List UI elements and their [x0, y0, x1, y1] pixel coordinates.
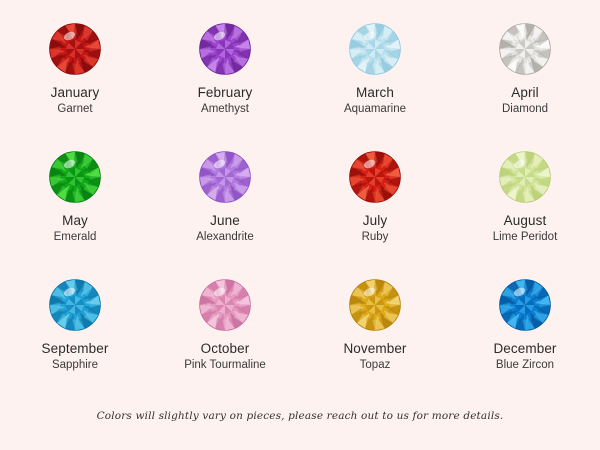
footnote-text: Colors will slightly vary on pieces, ple…: [0, 410, 600, 421]
birthstone-cell[interactable]: DecemberBlue Zircon: [450, 278, 600, 406]
birthstone-month: March: [356, 85, 394, 101]
gem-icon-blue-zircon: [498, 278, 552, 332]
birthstone-name: Alexandrite: [196, 230, 254, 244]
gem-icon-diamond: [498, 22, 552, 76]
birthstone-cell[interactable]: NovemberTopaz: [300, 278, 450, 406]
birthstone-name: Amethyst: [201, 102, 249, 116]
gem-icon-ruby: [348, 150, 402, 204]
birthstone-month: January: [51, 85, 100, 101]
birthstone-name: Pink Tourmaline: [184, 358, 266, 372]
birthstone-month: September: [42, 341, 109, 357]
birthstone-month: December: [493, 341, 556, 357]
gem-icon-emerald: [48, 150, 102, 204]
birthstone-month: October: [201, 341, 250, 357]
birthstone-cell[interactable]: AugustLime Peridot: [450, 150, 600, 278]
birthstone-cell[interactable]: MarchAquamarine: [300, 22, 450, 150]
birthstone-cell[interactable]: JulyRuby: [300, 150, 450, 278]
birthstone-cell[interactable]: JuneAlexandrite: [150, 150, 300, 278]
birthstone-name: Sapphire: [52, 358, 98, 372]
birthstone-cell[interactable]: FebruaryAmethyst: [150, 22, 300, 150]
birthstone-name: Blue Zircon: [496, 358, 554, 372]
gem-icon-pink-tourmaline: [198, 278, 252, 332]
birthstone-name: Ruby: [362, 230, 389, 244]
gem-icon-alexandrite: [198, 150, 252, 204]
birthstone-cell[interactable]: AprilDiamond: [450, 22, 600, 150]
birthstone-month: April: [511, 85, 539, 101]
birthstone-name: Lime Peridot: [493, 230, 558, 244]
birthstone-name: Aquamarine: [344, 102, 406, 116]
gem-icon-amethyst: [198, 22, 252, 76]
gem-icon-topaz: [348, 278, 402, 332]
birthstone-name: Diamond: [502, 102, 548, 116]
birthstone-month: May: [62, 213, 88, 229]
birthstone-month: July: [363, 213, 387, 229]
gem-icon-lime-peridot: [498, 150, 552, 204]
birthstone-name: Topaz: [360, 358, 391, 372]
birthstone-cell[interactable]: JanuaryGarnet: [0, 22, 150, 150]
birthstone-cell[interactable]: MayEmerald: [0, 150, 150, 278]
birthstone-month: August: [504, 213, 547, 229]
gem-icon-sapphire: [48, 278, 102, 332]
birthstone-chart-page: JanuaryGarnetFebruaryAmethystMarchAquama…: [0, 0, 600, 450]
birthstone-name: Emerald: [54, 230, 97, 244]
birthstone-month: November: [343, 341, 406, 357]
birthstone-grid: JanuaryGarnetFebruaryAmethystMarchAquama…: [0, 22, 600, 406]
birthstone-cell[interactable]: OctoberPink Tourmaline: [150, 278, 300, 406]
gem-icon-garnet: [48, 22, 102, 76]
birthstone-cell[interactable]: SeptemberSapphire: [0, 278, 150, 406]
birthstone-name: Garnet: [57, 102, 92, 116]
birthstone-month: February: [198, 85, 253, 101]
gem-icon-aquamarine: [348, 22, 402, 76]
birthstone-month: June: [210, 213, 240, 229]
